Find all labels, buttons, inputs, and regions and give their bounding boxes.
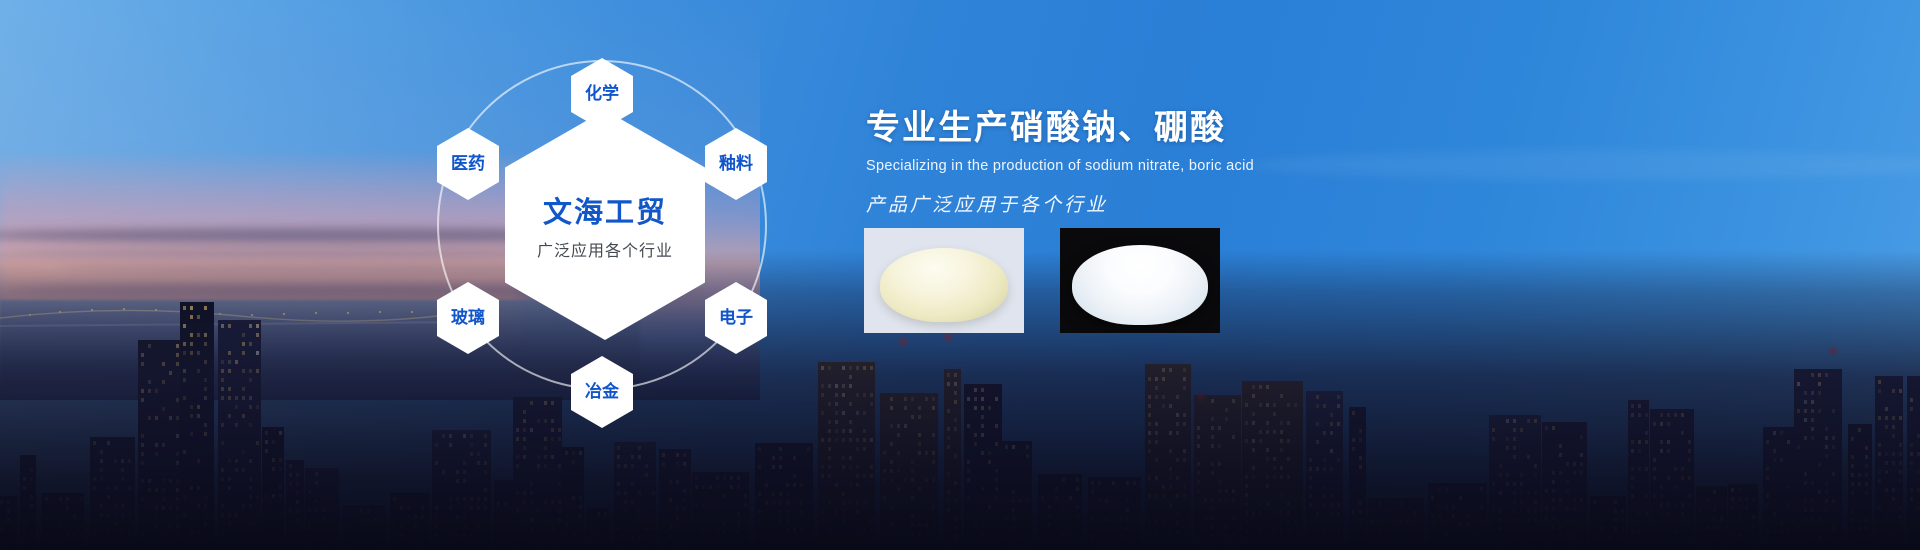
english-subtitle: Specializing in the production of sodium…	[866, 158, 1566, 174]
marketing-copy: 专业生产硝酸钠、硼酸 Specializing in the productio…	[866, 100, 1566, 217]
industry-hex-diagram: 化学 釉料 电子 冶金 玻璃 医药 文海工贸 广泛应用各个行业	[415, 20, 795, 440]
company-name: 文海工贸	[543, 189, 667, 231]
hex-node-label: 化学	[585, 86, 619, 103]
product-photo-sodium-nitrate[interactable]	[864, 228, 1024, 333]
hex-node-label: 医药	[451, 156, 485, 173]
tagline: 产品广泛应用于各个行业	[866, 190, 1566, 217]
hero-banner: 化学 釉料 电子 冶金 玻璃 医药 文海工贸 广泛应用各个行业 专业生产硝酸钠、…	[0, 0, 1920, 550]
hex-node-label: 电子	[719, 310, 753, 327]
product-photo-boric-acid[interactable]	[1060, 228, 1220, 333]
hex-node-label: 釉料	[719, 156, 753, 173]
hex-node-label: 玻璃	[451, 310, 485, 327]
powder-mound	[1072, 245, 1208, 325]
hex-node-label: 冶金	[585, 384, 619, 401]
product-photo-group	[864, 228, 1220, 333]
company-slogan: 广泛应用各个行业	[537, 237, 673, 261]
headline: 专业生产硝酸钠、硼酸	[866, 100, 1566, 149]
powder-mound	[880, 248, 1008, 322]
